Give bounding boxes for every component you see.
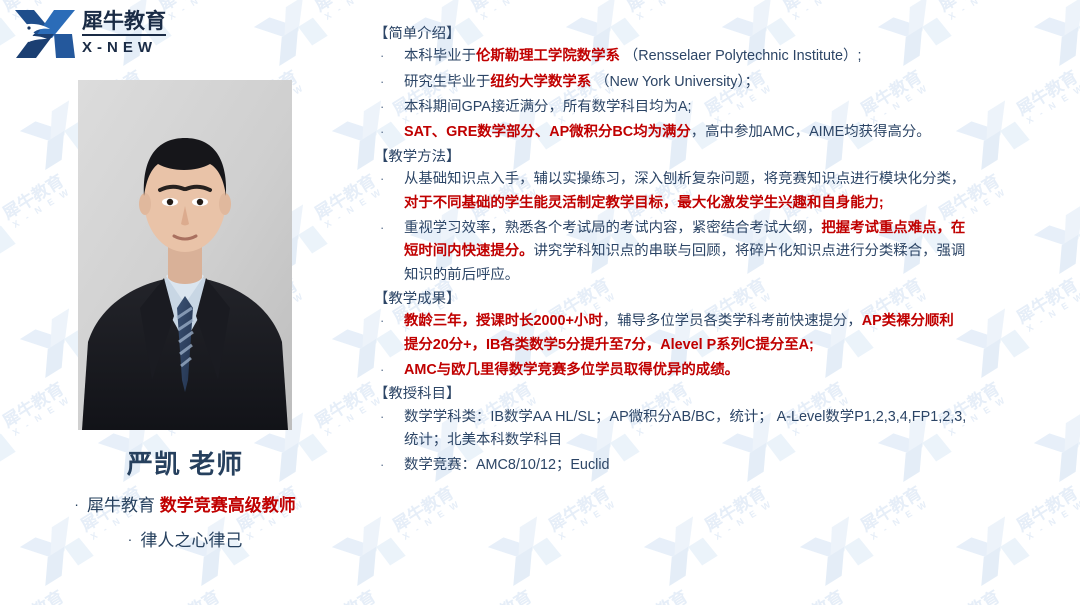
rhino-x-logo-icon [14, 8, 76, 60]
list-item-text: 本科毕业于伦斯勒理工学院数学系 （Rensselaer Polytechnic … [404, 45, 1080, 68]
text-line: 重视学习效率，熟悉各个考试局的考试内容，紧密结合考试大纲，把握考试重点难点，在 [404, 217, 1080, 240]
watermark-text: 犀牛教育X - N E W [624, 587, 697, 605]
watermark-x-icon [252, 0, 327, 65]
list-item: ·研究生毕业于纽约大学数学系 （New York University）； [372, 71, 1080, 94]
list-item-text: 本科期间GPA接近满分，所有数学科目均为A; [404, 96, 1080, 119]
list-bullet-icon: · [372, 96, 404, 117]
body-text: ，辅导多位学员各类学科考前快速提分， [603, 313, 862, 329]
watermark-text: 犀牛教育X - N E W [312, 0, 385, 24]
list-item-text: 数学学科类：IB数学AA HL/SL；AP微积分AB/BC，统计； A-Leve… [404, 406, 1080, 453]
logo-chinese-text: 犀牛教育 [82, 10, 166, 36]
highlight-text: AMC与欧几里得数学竞赛多位学员取得优异的成绩。 [404, 362, 739, 378]
watermark-text: 犀牛教育X - N E W [312, 587, 385, 605]
text-line: 知识的前后呼应。 [404, 264, 1080, 287]
watermark-x-icon [0, 0, 15, 65]
body-text: ，高中参加AMC，AIME均获得高分。 [691, 124, 931, 140]
highlight-text: 对于不同基础的学生能灵活制定教学目标，最大化激发学生兴趣和自身能力; [404, 195, 884, 211]
text-line: 短时间内快速提分。讲究学科知识点的串联与回顾，将碎片化知识点进行分类糅合，强调 [404, 240, 1080, 263]
highlight-text: SAT、GRE数学部分、AP微积分BC均为满分 [404, 124, 691, 140]
logo-english-text: X-NEW [82, 38, 166, 58]
text-line: 教龄三年，授课时长2000+小时，辅导多位学员各类学科考前快速提分，AP类裸分顺… [404, 310, 1080, 333]
body-text: 数学竞赛：AMC8/10/12；Euclid [404, 457, 610, 473]
list-item-text: 数学竞赛：AMC8/10/12；Euclid [404, 454, 1080, 477]
watermark-text: 犀牛教育X - N E W [0, 587, 73, 605]
section-heading: 【教学方法】 [374, 147, 1080, 167]
watermark-text: 犀牛教育X - N E W [390, 483, 463, 543]
list-item: ·AMC与欧几里得数学竞赛多位学员取得优异的成绩。 [372, 359, 1080, 382]
highlight-text: AP类裸分顺利 [862, 313, 954, 329]
motto-text: 律人之心律己 [140, 531, 242, 550]
list-bullet-icon: · [372, 121, 404, 142]
watermark-text: 犀牛教育X - N E W [936, 0, 1009, 24]
text-line: 数学学科类：IB数学AA HL/SL；AP微积分AB/BC，统计； A-Leve… [404, 406, 1080, 429]
teacher-role: ·犀牛教育 数学竞赛高级教师 [0, 491, 370, 516]
body-text: 研究生毕业于 [404, 74, 490, 90]
list-item: ·本科期间GPA接近满分，所有数学科目均为A; [372, 96, 1080, 119]
list-item: ·数学竞赛：AMC8/10/12；Euclid [372, 454, 1080, 477]
list-bullet-icon: · [372, 45, 404, 66]
watermark-text: 犀牛教育X - N E W [858, 483, 931, 543]
list-item: ·从基础知识点入手，辅以实操练习，深入刨析复杂问题，将竞赛知识点进行模块化分类，… [372, 168, 1080, 215]
slide-page: 犀牛教育X - N E W犀牛教育X - N E W犀牛教育X - N E W犀… [0, 0, 1080, 605]
list-item-text: SAT、GRE数学部分、AP微积分BC均为满分，高中参加AMC，AIME均获得高… [404, 121, 1080, 144]
profile-column: 严凯 老师 ·犀牛教育 数学竞赛高级教师 ·律人之心律己 [0, 70, 370, 551]
list-item: ·数学学科类：IB数学AA HL/SL；AP微积分AB/BC，统计； A-Lev… [372, 406, 1080, 453]
role-bullet-icon: · [74, 496, 79, 512]
list-item: ·本科毕业于伦斯勒理工学院数学系 （Rensselaer Polytechnic… [372, 45, 1080, 68]
body-text: 重视学习效率，熟悉各个考试局的考试内容，紧密结合考试大纲， [404, 220, 821, 236]
list-bullet-icon: · [372, 454, 404, 475]
teacher-portrait-photo [78, 80, 292, 430]
text-line: 提分20分+，IB各类数学5分提升至7分，Alevel P系列C提分至A; [404, 334, 1080, 357]
brand-logo: 犀牛教育 X-NEW [14, 6, 194, 62]
list-bullet-icon: · [372, 359, 404, 380]
content-column: 【简单介绍】·本科毕业于伦斯勒理工学院数学系 （Rensselaer Polyt… [372, 24, 1080, 480]
body-text: 本科期间GPA接近满分，所有数学科目均为A; [404, 99, 692, 115]
list-bullet-icon: · [372, 71, 404, 92]
list-bullet-icon: · [372, 217, 404, 238]
watermark-text: 犀牛教育X - N E W [780, 0, 853, 24]
watermark-x-icon [642, 514, 717, 585]
motto-bullet-icon: · [128, 531, 133, 547]
body-text: 从基础知识点入手，辅以实操练习，深入刨析复杂问题，将竞赛知识点进行模块化分类， [404, 171, 965, 187]
list-bullet-icon: · [372, 168, 404, 189]
highlight-text: 把握考试重点难点，在 [821, 220, 965, 236]
text-line: 本科期间GPA接近满分，所有数学科目均为A; [404, 96, 1080, 119]
watermark-x-icon [798, 514, 873, 585]
watermark-text: 犀牛教育X - N E W [1014, 483, 1080, 543]
watermark-text: 犀牛教育X - N E W [702, 483, 775, 543]
body-text: 知识的前后呼应。 [404, 267, 519, 283]
watermark-text: 犀牛教育X - N E W [468, 0, 541, 24]
list-bullet-icon: · [372, 310, 404, 331]
section-heading: 【教学成果】 [374, 289, 1080, 309]
list-item-text: 重视学习效率，熟悉各个考试局的考试内容，紧密结合考试大纲，把握考试重点难点，在短… [404, 217, 1080, 287]
section-heading: 【教授科目】 [374, 384, 1080, 404]
section-heading: 【简单介绍】 [374, 24, 1080, 44]
text-line: SAT、GRE数学部分、AP微积分BC均为满分，高中参加AMC，AIME均获得高… [404, 121, 1080, 144]
text-line: 从基础知识点入手，辅以实操练习，深入刨析复杂问题，将竞赛知识点进行模块化分类， [404, 168, 1080, 191]
list-item-text: 从基础知识点入手，辅以实操练习，深入刨析复杂问题，将竞赛知识点进行模块化分类，对… [404, 168, 1080, 215]
body-text: 讲究学科知识点的串联与回顾，将碎片化知识点进行分类糅合，强调 [534, 243, 966, 259]
body-text: 本科毕业于 [404, 48, 476, 64]
watermark-text: 犀牛教育X - N E W [780, 587, 853, 605]
body-text: 统计；北美本科数学科目 [404, 432, 562, 448]
highlight-text: 教龄三年，授课时长2000+小时 [404, 313, 603, 329]
watermark-text: 犀牛教育X - N E W [468, 587, 541, 605]
role-prefix: 犀牛教育 [87, 496, 160, 515]
text-line: 数学竞赛：AMC8/10/12；Euclid [404, 454, 1080, 477]
highlight-text: 伦斯勒理工学院数学系 [476, 48, 620, 64]
highlight-text: 提分20分+，IB各类数学5分提升至7分，Alevel P系列C提分至A; [404, 337, 814, 353]
list-item: ·教龄三年，授课时长2000+小时，辅导多位学员各类学科考前快速提分，AP类裸分… [372, 310, 1080, 357]
body-text: （New York University）； [591, 74, 759, 90]
text-line: 本科毕业于伦斯勒理工学院数学系 （Rensselaer Polytechnic … [404, 45, 1080, 68]
list-item: ·SAT、GRE数学部分、AP微积分BC均为满分，高中参加AMC，AIME均获得… [372, 121, 1080, 144]
watermark-x-icon [954, 514, 1029, 585]
watermark-text: 犀牛教育X - N E W [546, 483, 619, 543]
text-line: 对于不同基础的学生能灵活制定教学目标，最大化激发学生兴趣和自身能力; [404, 192, 1080, 215]
watermark-text: 犀牛教育X - N E W [936, 587, 1009, 605]
watermark-text: 犀牛教育X - N E W [156, 587, 229, 605]
list-item-text: 教龄三年，授课时长2000+小时，辅导多位学员各类学科考前快速提分，AP类裸分顺… [404, 310, 1080, 357]
role-highlight: 数学竞赛高级教师 [160, 496, 296, 515]
highlight-text: 纽约大学数学系 [490, 74, 591, 90]
text-line: 统计；北美本科数学科目 [404, 429, 1080, 452]
watermark-x-icon [486, 514, 561, 585]
text-line: 研究生毕业于纽约大学数学系 （New York University）； [404, 71, 1080, 94]
teacher-motto: ·律人之心律己 [0, 526, 370, 551]
highlight-text: 短时间内快速提分。 [404, 243, 534, 259]
body-text: 数学学科类：IB数学AA HL/SL；AP微积分AB/BC，统计； A-Leve… [404, 409, 966, 425]
list-item-text: 研究生毕业于纽约大学数学系 （New York University）； [404, 71, 1080, 94]
list-item: ·重视学习效率，熟悉各个考试局的考试内容，紧密结合考试大纲，把握考试重点难点，在… [372, 217, 1080, 287]
list-bullet-icon: · [372, 406, 404, 427]
watermark-text: 犀牛教育X - N E W [624, 0, 697, 24]
body-text: （Rensselaer Polytechnic Institute）; [620, 48, 862, 64]
teacher-name: 严凯 老师 [0, 444, 370, 481]
text-line: AMC与欧几里得数学竞赛多位学员取得优异的成绩。 [404, 359, 1080, 382]
list-item-text: AMC与欧几里得数学竞赛多位学员取得优异的成绩。 [404, 359, 1080, 382]
